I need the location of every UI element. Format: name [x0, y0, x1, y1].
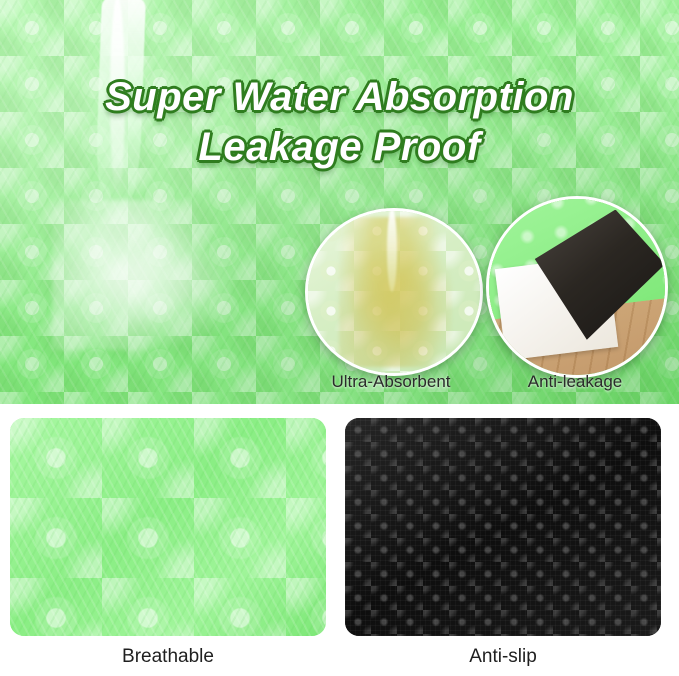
swatch-breathable: [10, 418, 326, 636]
inset-anti-leakage: [486, 196, 668, 378]
caption-anti-leakage: Anti-leakage: [490, 372, 660, 392]
water-splash-area: [52, 200, 232, 350]
breathable-fabric-texture: [10, 418, 326, 636]
swatch-anti-slip: [345, 418, 661, 636]
caption-anti-slip: Anti-slip: [345, 646, 661, 668]
water-stream-highlight: [110, 0, 125, 196]
caption-breathable: Breathable: [10, 646, 326, 668]
anti-slip-backing-texture: [345, 418, 661, 636]
hero-panel: Super Water Absorption Leakage Proof Ult…: [0, 0, 679, 404]
inset-ultra-absorbent: [305, 208, 483, 376]
caption-ultra-absorbent: Ultra-Absorbent: [296, 372, 486, 392]
product-feature-poster: Super Water Absorption Leakage Proof Ult…: [0, 0, 679, 676]
bottom-panel: Breathable Anti-slip: [0, 404, 679, 676]
